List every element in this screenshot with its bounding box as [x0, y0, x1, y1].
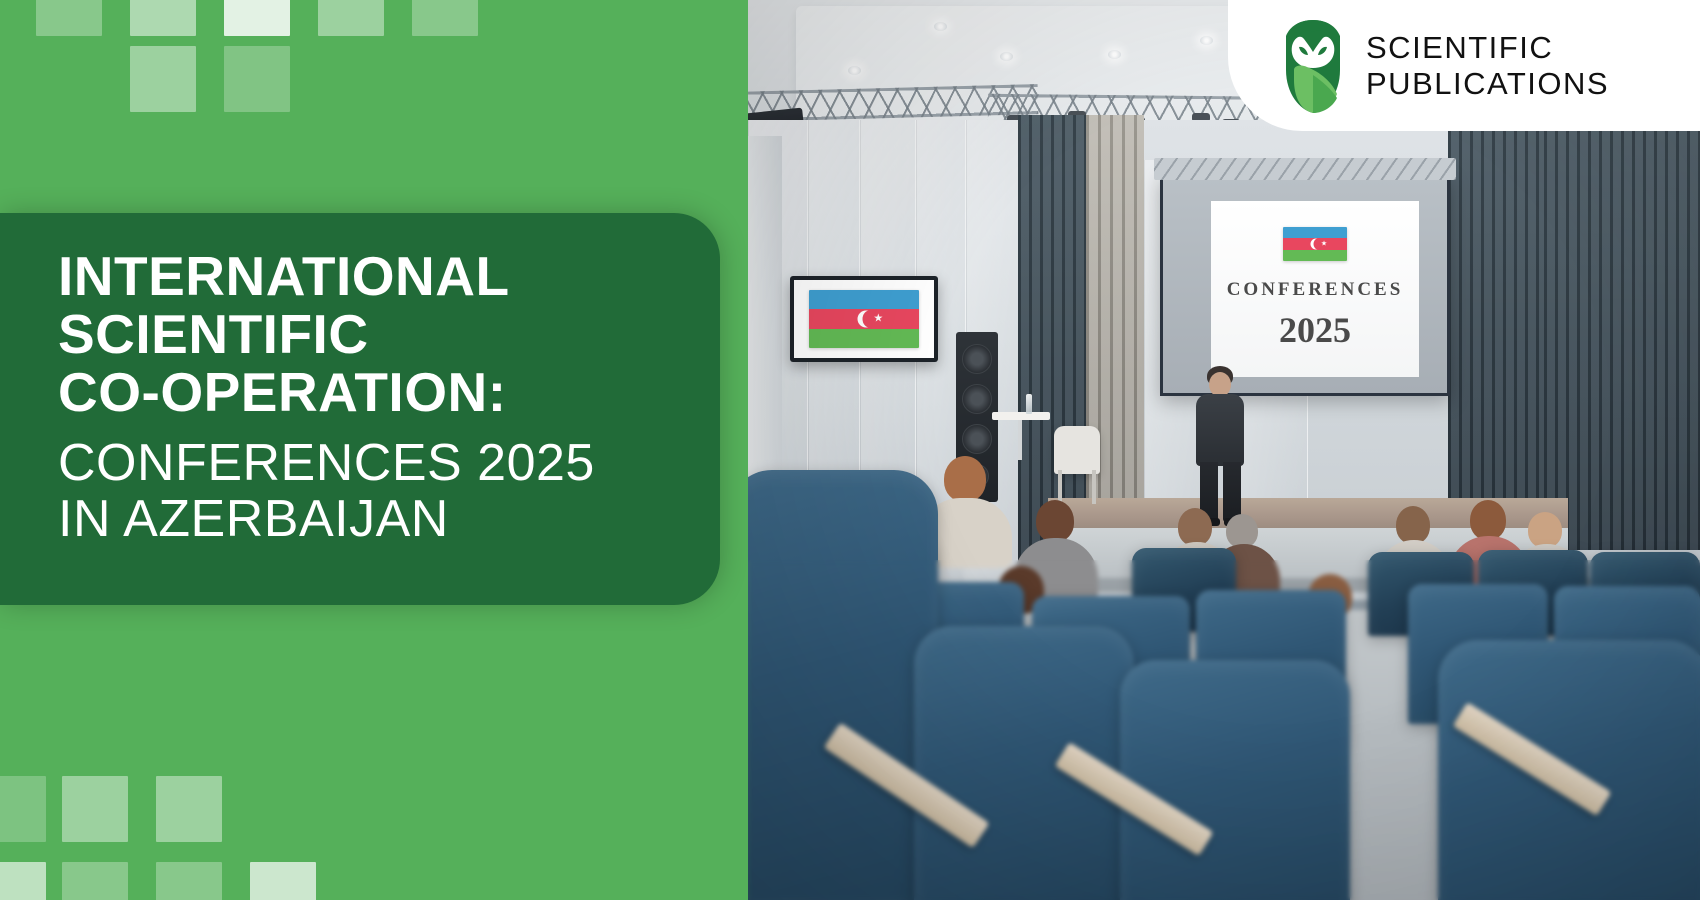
- azerbaijan-flag-icon: ★: [809, 290, 919, 348]
- wall-monitor: ★: [790, 276, 938, 362]
- ceiling-lamp: [1000, 52, 1013, 61]
- headline-light-line-1: CONFERENCES 2025: [58, 435, 698, 491]
- ceiling-lamp: [1108, 50, 1121, 59]
- chair-leg: [1092, 470, 1096, 504]
- auditorium-seat-foreground: [1120, 660, 1350, 900]
- audience-head: [1226, 514, 1258, 548]
- headline-bold-line-3: CO-OPERATION:: [58, 363, 698, 421]
- conference-hall-photo: ★ ★ CONFERENCES 2025: [748, 0, 1700, 900]
- audience-head: [1528, 512, 1562, 548]
- headline-bold-line-1: INTERNATIONAL: [58, 247, 698, 305]
- logo-line-2: PUBLICATIONS: [1366, 68, 1609, 99]
- side-table: [992, 412, 1050, 420]
- monitor-screen: ★: [794, 280, 934, 358]
- projection-screen-title: CONFERENCES: [1227, 279, 1404, 301]
- owl-icon: [1280, 18, 1346, 114]
- audience-head: [1470, 500, 1506, 540]
- headline-panel: INTERNATIONAL SCIENTIFIC CO-OPERATION: C…: [0, 213, 720, 605]
- screen-valance: [1154, 158, 1456, 180]
- audience-head: [1036, 500, 1074, 542]
- audience-head: [1396, 506, 1430, 544]
- logo-wordmark: SCIENTIFIC PUBLICATIONS: [1366, 32, 1609, 99]
- logo-line-1: SCIENTIFIC: [1366, 32, 1609, 63]
- stage-chair: [1054, 426, 1100, 474]
- azerbaijan-flag-icon: ★: [1283, 227, 1347, 261]
- projection-screen-frame: ★ CONFERENCES 2025: [1160, 174, 1450, 396]
- presenter-torso: [1196, 394, 1244, 466]
- audience-head: [944, 456, 986, 502]
- logo-badge[interactable]: SCIENTIFIC PUBLICATIONS: [1228, 0, 1700, 131]
- headline-bold-line-2: SCIENTIFIC: [58, 305, 698, 363]
- ceiling-lamp: [1200, 36, 1213, 45]
- ceiling-lamp: [934, 22, 947, 31]
- audience-head: [1178, 508, 1212, 546]
- stage-curtain: [1448, 120, 1544, 550]
- projection-screen: ★ CONFERENCES 2025: [1211, 201, 1419, 377]
- headline-text-wrap: INTERNATIONAL SCIENTIFIC CO-OPERATION: C…: [58, 247, 698, 547]
- ceiling-lamp: [848, 66, 861, 75]
- headline-light-line-2: IN AZERBAIJAN: [58, 491, 698, 547]
- water-bottle: [1026, 394, 1032, 414]
- banner-root: ★ ★ CONFERENCES 2025: [0, 0, 1700, 900]
- chair-leg: [1058, 470, 1062, 504]
- stage-curtain: [1544, 120, 1700, 550]
- table-leg: [1018, 420, 1022, 460]
- projection-screen-year: 2025: [1279, 309, 1351, 351]
- presenter-leg: [1223, 462, 1241, 522]
- auditorium-seat-foreground: [748, 470, 938, 900]
